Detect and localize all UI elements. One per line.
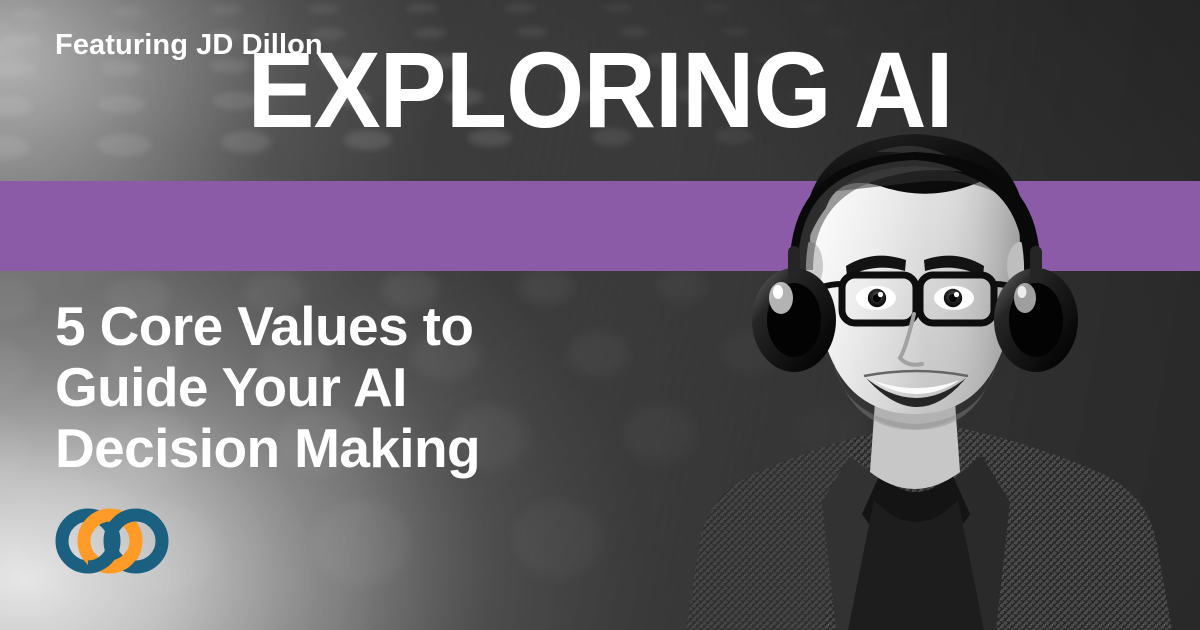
featuring-label: Featuring JD Dillon bbox=[55, 0, 323, 90]
episode-promo-card: Featuring JD Dillon EXPLORING AI 5 Core … bbox=[0, 0, 1200, 630]
logo-svg bbox=[54, 503, 174, 579]
headline-line-1: 5 Core Values to bbox=[55, 296, 615, 357]
headline-line-3: Decision Making bbox=[55, 418, 615, 479]
series-title: EXPLORING AI bbox=[247, 38, 952, 142]
eyeglasses bbox=[810, 275, 1026, 323]
headline-line-2: Guide Your AI bbox=[55, 357, 615, 418]
interlocking-rings-logo bbox=[54, 503, 174, 579]
host-portrait-photo bbox=[680, 70, 1200, 630]
episode-headline: 5 Core Values to Guide Your AI Decision … bbox=[55, 296, 615, 479]
portrait-svg bbox=[680, 70, 1200, 630]
